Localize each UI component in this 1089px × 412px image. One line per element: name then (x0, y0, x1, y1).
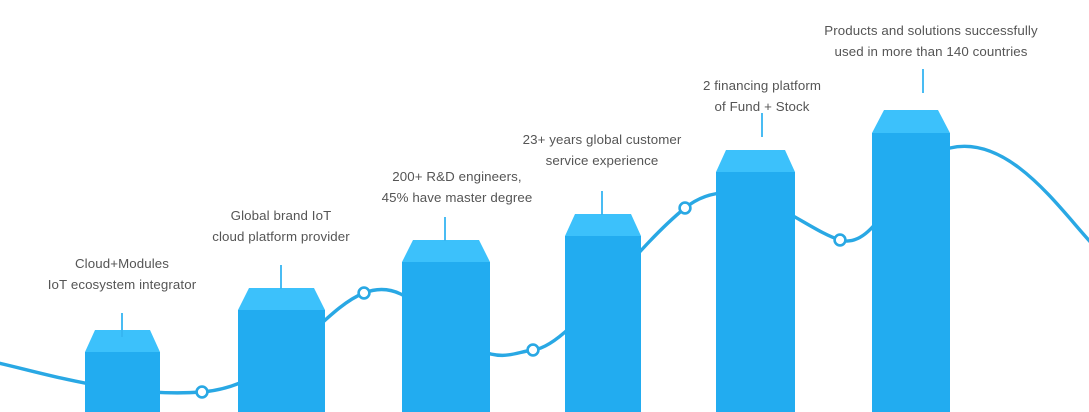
label-line-1: 23+ years global customer (523, 129, 682, 150)
bar-bar-6 (872, 110, 950, 412)
milestone-label-bar-1: Cloud+ModulesIoT ecosystem integrator (48, 253, 196, 295)
milestone-label-bar-5: 2 financing platformof Fund + Stock (703, 75, 821, 117)
label-line-1: Cloud+Modules (48, 253, 196, 274)
bar-front-face (872, 133, 950, 412)
bar-bar-2 (238, 288, 325, 412)
label-line-2: cloud platform provider (212, 226, 350, 247)
label-line-2: 45% have master degree (382, 187, 533, 208)
label-line-2: of Fund + Stock (703, 96, 821, 117)
label-line-1: 2 financing platform (703, 75, 821, 96)
bar-top-face (238, 288, 325, 310)
bar-top-face (872, 110, 950, 133)
infographic-canvas: Cloud+ModulesIoT ecosystem integratorGlo… (0, 0, 1089, 412)
bar-bar-3 (402, 240, 490, 412)
label-line-2: IoT ecosystem integrator (48, 274, 196, 295)
marker-4[interactable] (680, 203, 691, 214)
milestone-label-bar-3: 200+ R&D engineers,45% have master degre… (382, 166, 533, 208)
label-line-1: Products and solutions successfully (824, 20, 1037, 41)
bar-top-face (716, 150, 795, 172)
milestone-label-bar-2: Global brand IoTcloud platform provider (212, 205, 350, 247)
bar-bar-4 (565, 214, 641, 412)
bar-bar-5 (716, 150, 795, 412)
label-line-2: service experience (523, 150, 682, 171)
bar-front-face (402, 262, 490, 412)
bar-front-face (85, 352, 160, 412)
bar-front-face (565, 236, 641, 412)
bar-front-face (238, 310, 325, 412)
bar-front-face (716, 172, 795, 412)
label-line-1: 200+ R&D engineers, (382, 166, 533, 187)
bars-group (85, 110, 950, 412)
milestone-label-bar-4: 23+ years global customerservice experie… (523, 129, 682, 171)
label-line-1: Global brand IoT (212, 205, 350, 226)
marker-1[interactable] (197, 387, 208, 398)
label-line-2: used in more than 140 countries (824, 41, 1037, 62)
milestone-label-bar-6: Products and solutions successfullyused … (824, 20, 1037, 62)
marker-2[interactable] (359, 288, 370, 299)
marker-3[interactable] (528, 345, 539, 356)
bar-bar-1 (85, 330, 160, 412)
bar-top-face (565, 214, 641, 236)
bar-top-face (402, 240, 490, 262)
marker-5[interactable] (835, 235, 846, 246)
